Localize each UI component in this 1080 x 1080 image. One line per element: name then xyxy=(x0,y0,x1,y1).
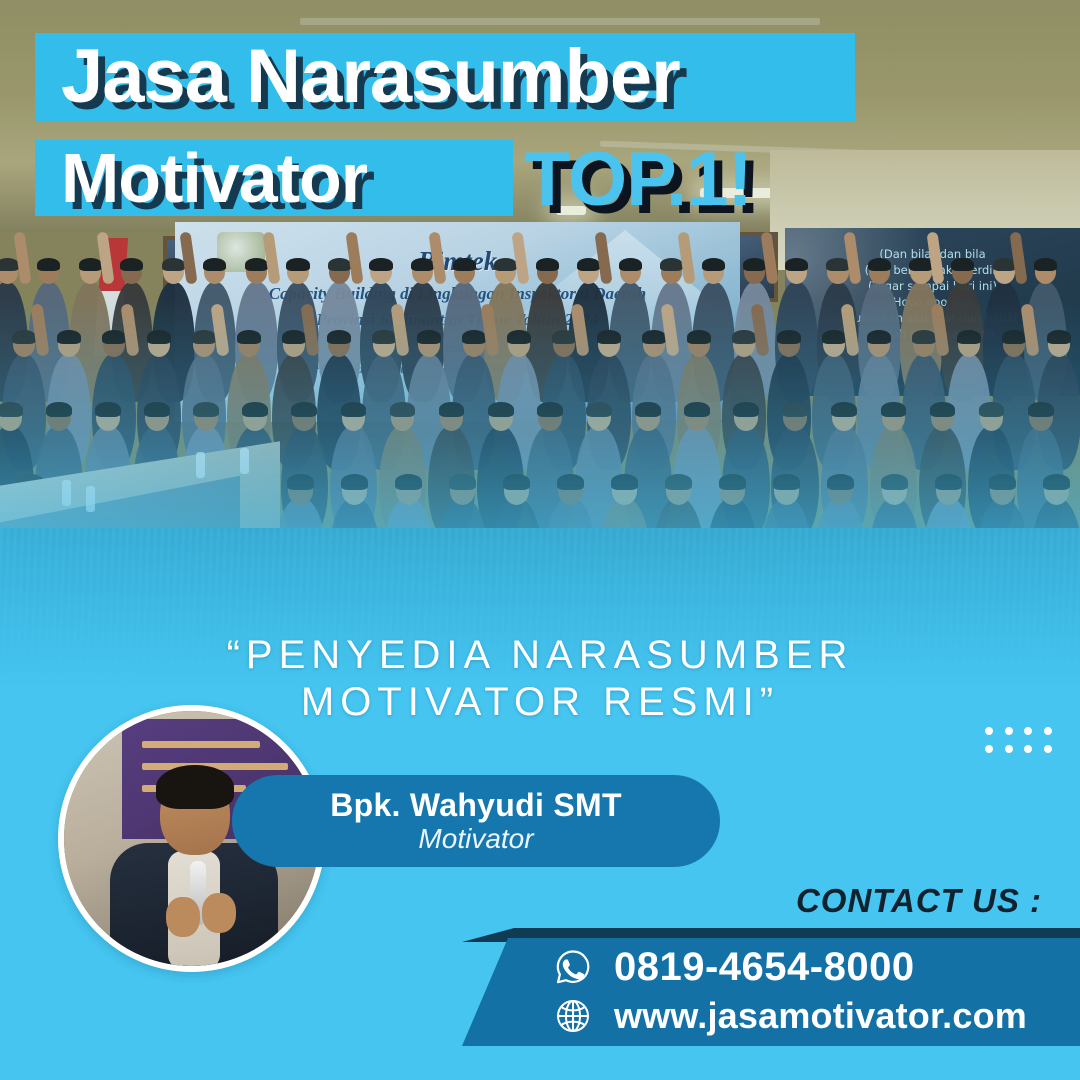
contact-website-row[interactable]: www.jasamotivator.com xyxy=(554,996,1027,1036)
avatar-slide-line xyxy=(142,741,260,748)
speaker-role: Motivator xyxy=(418,823,533,855)
decor-dot xyxy=(1044,745,1052,753)
decor-dot xyxy=(1005,745,1013,753)
contact-bar: 0819-4654-8000 www.jasamotivator.com xyxy=(462,938,1080,1046)
title-line2-text: Motivator xyxy=(61,143,367,213)
decor-dot xyxy=(985,745,993,753)
contact-phone[interactable]: 0819-4654-8000 xyxy=(614,946,915,988)
contact-website[interactable]: www.jasamotivator.com xyxy=(614,996,1027,1036)
contact-heading: CONTACT US : xyxy=(0,882,1042,920)
decor-dot xyxy=(1024,727,1032,735)
whatsapp-icon xyxy=(554,948,592,986)
tagline-line1: “PENYEDIA NARASUMBER xyxy=(0,632,1080,679)
poster: Bimtek Capacity Building di Lingkungan I… xyxy=(0,0,1080,1080)
title-line1-text: Jasa Narasumber xyxy=(61,39,680,115)
decor-dot xyxy=(1005,727,1013,735)
decor-dot xyxy=(1024,745,1032,753)
decor-dot xyxy=(985,727,993,735)
title-banner-line1: Jasa Narasumber xyxy=(35,33,855,121)
speaker-name: Bpk. Wahyudi SMT xyxy=(330,787,622,823)
speaker-name-bar: Bpk. Wahyudi SMT Motivator xyxy=(232,775,720,867)
title-banner-line2: Motivator xyxy=(35,140,513,216)
decor-dot xyxy=(1044,727,1052,735)
decorative-dots xyxy=(985,727,1057,757)
globe-icon xyxy=(554,997,592,1035)
contact-phone-row[interactable]: 0819-4654-8000 xyxy=(554,946,915,988)
title-highlight-top1: TOP.1! xyxy=(524,142,752,218)
avatar-hair xyxy=(156,765,234,809)
